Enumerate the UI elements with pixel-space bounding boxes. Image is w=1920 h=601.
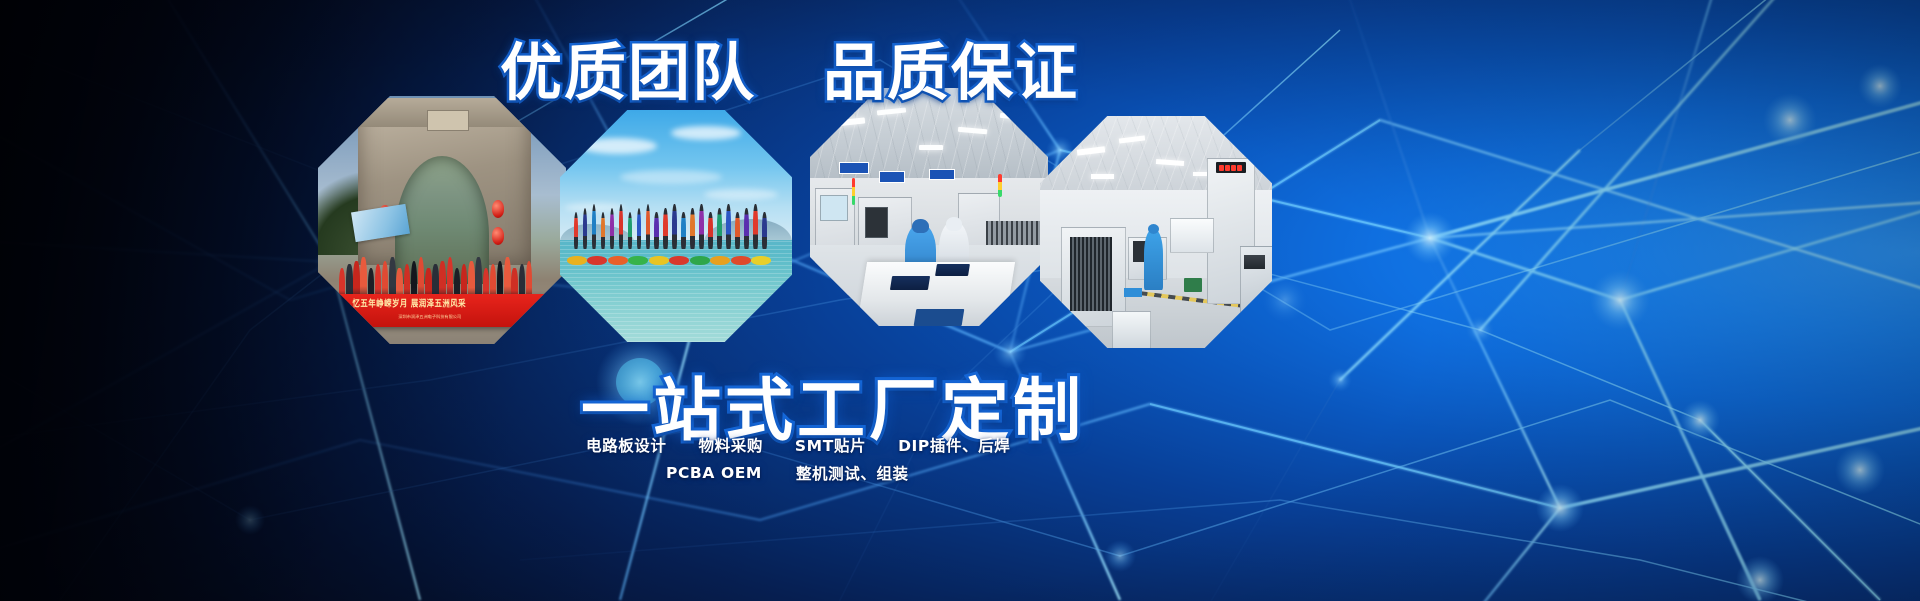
service-list-row-1: 电路板设计 物料采购 SMT贴片 DIP插件、后焊 [586, 434, 1010, 456]
photo-smt-production-line: 平移机 [810, 88, 1048, 326]
service-item: 整机测试、组装 [796, 462, 909, 484]
photo-clean-workshop [1040, 116, 1272, 348]
service-item: 电路板设计 [586, 434, 667, 456]
service-item: DIP插件、后焊 [898, 434, 1010, 456]
worker-figure [1144, 230, 1163, 290]
paddler-figures [572, 203, 781, 249]
headline-top-left: 优质团队 [500, 22, 756, 112]
archway-plaque [427, 110, 469, 132]
promo-banner: 忆五年峥嵘岁月 展润泽五洲风采 深圳市润泽五洲电子科技有限公司 [0, 0, 1920, 601]
red-banner-subtext: 深圳市润泽五洲电子科技有限公司 [398, 314, 461, 320]
red-banner-text: 忆五年峥嵘岁月 展润泽五洲风采 [353, 297, 543, 311]
photo-team-outing-archway: 忆五年峥嵘岁月 展润泽五洲风采 深圳市润泽五洲电子科技有限公司 [318, 96, 566, 344]
service-item: PCBA OEM [666, 464, 762, 482]
photo-team-kayaking-sea [560, 110, 792, 342]
headline-top-right: 品质保证 [823, 22, 1079, 112]
led-readout [1216, 162, 1246, 172]
service-list-row-2: PCBA OEM 整机测试、组装 [666, 462, 909, 484]
service-item: SMT贴片 [795, 434, 866, 456]
service-item: 物料采购 [699, 434, 763, 456]
